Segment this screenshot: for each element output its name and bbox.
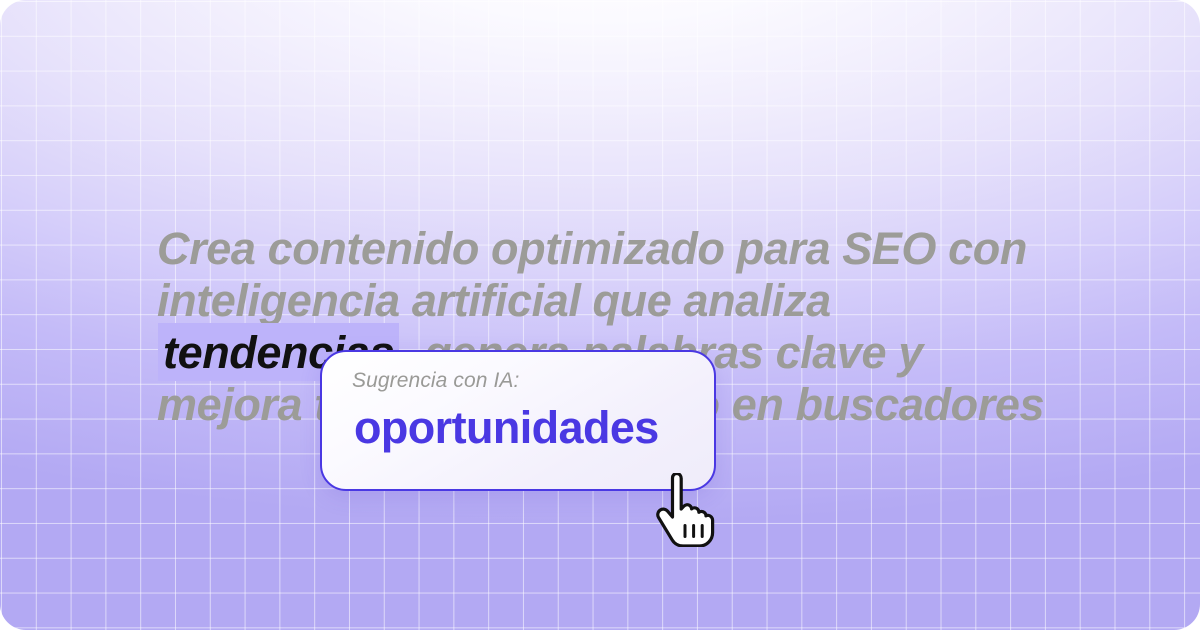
promo-canvas: Crea contenido optimizado para SEO con i…: [0, 0, 1200, 630]
ai-suggestion-card[interactable]: Sugrencia con IA: oportunidades: [320, 350, 716, 491]
ai-suggestion-label: Sugrencia con IA:: [352, 369, 519, 393]
prompt-segment-lead: Crea contenido optimizado para SEO con i…: [157, 223, 1039, 326]
ai-suggestion-value[interactable]: oportunidades: [354, 402, 659, 454]
